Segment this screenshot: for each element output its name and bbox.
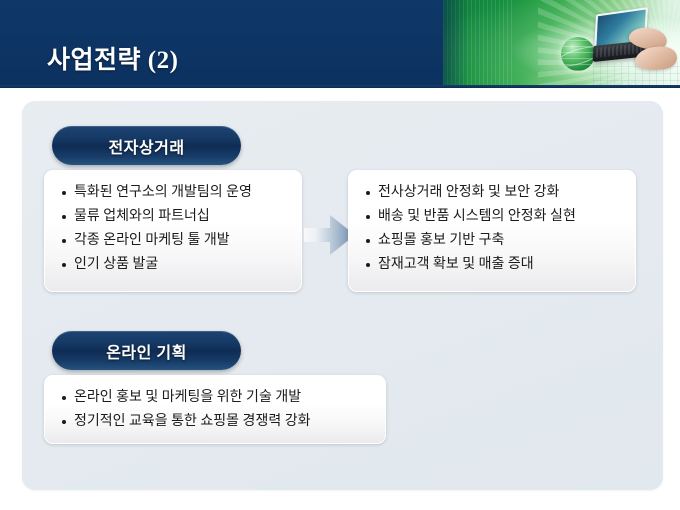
slide-header: 사업전략 (2) (0, 0, 680, 88)
graphic-left-fade (443, 0, 469, 88)
header-divider (0, 85, 680, 88)
list-item: 물류 업체와의 파트너십 (61, 208, 285, 226)
list-item: 배송 및 반품 시스템의 안정화 실현 (365, 208, 619, 226)
section-badge-ecommerce[interactable]: 전자상거래 (52, 126, 241, 165)
list-item: 정기적인 교육을 통한 쇼핑몰 경쟁력 강화 (61, 413, 369, 431)
slide: 사업전략 (2) 전자상거래 특화된 연구소의 개발팀의 운영 물류 업체와의 … (0, 0, 680, 510)
card-ecommerce-right: 전사상거래 안정화 및 보안 강화 배송 및 반품 시스템의 안정화 실현 쇼핑… (348, 170, 636, 292)
globe-laptop-hands-graphic (443, 0, 680, 88)
card-ecommerce-left: 특화된 연구소의 개발팀의 운영 물류 업체와의 파트너십 각종 온라인 마케팅… (44, 170, 302, 292)
section-badge-online-planning[interactable]: 온라인 기획 (52, 331, 241, 370)
list-item: 인기 상품 발굴 (61, 256, 285, 274)
bullet-list: 전사상거래 안정화 및 보안 강화 배송 및 반품 시스템의 안정화 실현 쇼핑… (365, 184, 619, 274)
section-badge-label: 온라인 기획 (106, 339, 187, 363)
list-item: 온라인 홍보 및 마케팅을 위한 기술 개발 (61, 389, 369, 407)
page-title: 사업전략 (2) (47, 40, 178, 76)
list-item: 쇼핑몰 홍보 기반 구축 (365, 232, 619, 250)
card-online-planning: 온라인 홍보 및 마케팅을 위한 기술 개발 정기적인 교육을 통한 쇼핑몰 경… (44, 375, 386, 444)
section-badge-label: 전자상거래 (108, 134, 184, 158)
globe-icon (561, 37, 595, 71)
list-item: 각종 온라인 마케팅 툴 개발 (61, 232, 285, 250)
list-item: 전사상거래 안정화 및 보안 강화 (365, 184, 619, 202)
list-item: 특화된 연구소의 개발팀의 운영 (61, 184, 285, 202)
bullet-list: 온라인 홍보 및 마케팅을 위한 기술 개발 정기적인 교육을 통한 쇼핑몰 경… (61, 389, 369, 431)
list-item: 잠재고객 확보 및 매출 증대 (365, 256, 619, 274)
bullet-list: 특화된 연구소의 개발팀의 운영 물류 업체와의 파트너십 각종 온라인 마케팅… (61, 184, 285, 274)
